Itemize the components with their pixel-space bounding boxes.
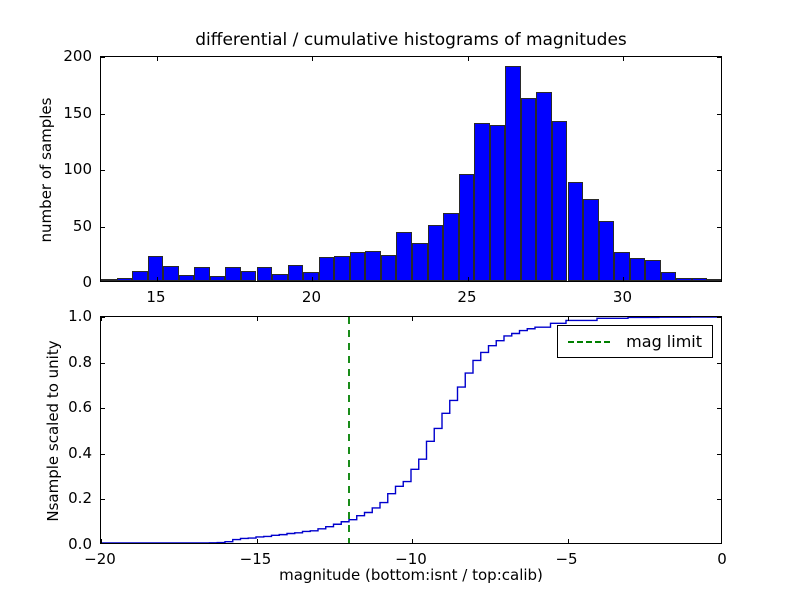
bottom-panel-xticklabel: −15 bbox=[240, 550, 272, 568]
histogram-bar bbox=[334, 256, 350, 281]
bottom-panel-xtick bbox=[101, 539, 102, 543]
bottom-panel-ytick bbox=[717, 317, 721, 318]
top-panel-xtick bbox=[157, 277, 158, 281]
bottom-panel-yticklabel: 0.4 bbox=[40, 444, 92, 462]
histogram-bar bbox=[117, 278, 133, 281]
histogram-bar bbox=[179, 275, 195, 281]
top-panel-ytick bbox=[717, 114, 721, 115]
bottom-panel-ytick bbox=[101, 363, 105, 364]
bottom-panel-ytick bbox=[717, 499, 721, 500]
top-panel-xtick bbox=[468, 57, 469, 61]
bottom-panel-xtick bbox=[568, 539, 569, 543]
top-panel-axes bbox=[100, 56, 722, 282]
histogram-bar bbox=[459, 174, 475, 281]
histogram-bar bbox=[257, 267, 273, 281]
histogram-bar bbox=[101, 279, 117, 281]
top-panel-xtick bbox=[157, 57, 158, 61]
bottom-panel-yticklabel: 0.0 bbox=[40, 535, 92, 553]
top-panel-xtick bbox=[623, 277, 624, 281]
histogram-bar bbox=[319, 257, 335, 281]
histogram-bar bbox=[381, 255, 397, 281]
bottom-panel-ytick bbox=[101, 317, 105, 318]
histogram-bar bbox=[163, 266, 179, 281]
bottom-panel-xtick bbox=[412, 317, 413, 321]
histogram-bar bbox=[490, 125, 506, 281]
mag-limit-line-swatch bbox=[568, 341, 610, 343]
histogram-bar bbox=[443, 213, 459, 281]
top-panel-ytick bbox=[717, 170, 721, 171]
top-panel-yticklabel: 150 bbox=[40, 104, 92, 122]
histogram-bar bbox=[521, 98, 537, 281]
top-panel-yticklabel: 100 bbox=[40, 160, 92, 178]
top-panel-yticklabel: 0 bbox=[40, 273, 92, 291]
figure-canvas: differential / cumulative histograms of … bbox=[0, 0, 800, 600]
histogram-bar bbox=[428, 225, 444, 282]
bottom-panel-xticklabel: −10 bbox=[395, 550, 427, 568]
histogram-bar bbox=[350, 252, 366, 281]
histogram-bar bbox=[210, 276, 226, 281]
histogram-bar bbox=[583, 199, 599, 281]
bottom-panel-ylabel: Nsample scaled to unity bbox=[44, 316, 62, 546]
bottom-panel-xticklabel: 0 bbox=[717, 550, 727, 568]
histogram-bar bbox=[396, 232, 412, 281]
bottom-panel-ytick bbox=[101, 454, 105, 455]
top-panel-ytick bbox=[101, 227, 105, 228]
top-panel-ytick bbox=[717, 57, 721, 58]
histogram-bar bbox=[225, 267, 241, 281]
bottom-panel-xtick bbox=[412, 539, 413, 543]
bottom-panel-xticklabel: −5 bbox=[555, 550, 577, 568]
bottom-panel-yticklabel: 0.2 bbox=[40, 489, 92, 507]
histogram-bar bbox=[707, 279, 721, 281]
histogram-bar bbox=[536, 92, 552, 281]
top-panel-ytick bbox=[717, 227, 721, 228]
histogram-bar bbox=[661, 272, 677, 281]
top-panel-xticklabel: 25 bbox=[457, 288, 476, 306]
histogram-bar bbox=[412, 243, 428, 281]
histogram-bar bbox=[505, 66, 521, 281]
histogram-bar bbox=[288, 265, 304, 281]
histogram-bar bbox=[148, 256, 164, 281]
top-panel-xticklabel: 30 bbox=[613, 288, 632, 306]
histogram-bar bbox=[241, 271, 257, 281]
bottom-panel-xlabel: magnitude (bottom:isnt / top:calib) bbox=[100, 566, 722, 584]
top-panel-ytick bbox=[101, 170, 105, 171]
bottom-panel-ytick bbox=[717, 363, 721, 364]
top-panel-ytick bbox=[101, 114, 105, 115]
top-panel-yticklabel: 200 bbox=[40, 47, 92, 65]
top-panel-xtick bbox=[623, 57, 624, 61]
legend-label-mag-limit: mag limit bbox=[626, 332, 702, 351]
histogram-bar bbox=[568, 182, 584, 281]
histogram-bar bbox=[194, 267, 210, 281]
histogram-plot-area bbox=[101, 57, 721, 281]
bottom-panel-xtick bbox=[257, 539, 258, 543]
top-panel-ytick bbox=[101, 57, 105, 58]
figure-title: differential / cumulative histograms of … bbox=[100, 30, 722, 50]
bottom-panel-axes: mag limit bbox=[100, 316, 722, 544]
top-panel-xtick bbox=[468, 277, 469, 281]
histogram-bar bbox=[630, 258, 646, 281]
top-panel-xtick bbox=[312, 277, 313, 281]
histogram-bar bbox=[552, 121, 568, 281]
bottom-panel-xtick bbox=[568, 317, 569, 321]
histogram-bar bbox=[614, 252, 630, 281]
top-panel-xticklabel: 15 bbox=[146, 288, 165, 306]
top-panel-xticklabel: 20 bbox=[302, 288, 321, 306]
histogram-bar bbox=[132, 271, 148, 281]
histogram-bar bbox=[272, 274, 288, 281]
bottom-panel-yticklabel: 0.8 bbox=[40, 353, 92, 371]
histogram-bar bbox=[645, 260, 661, 281]
top-panel-xtick bbox=[312, 57, 313, 61]
top-panel-yticklabel: 50 bbox=[40, 217, 92, 235]
histogram-bar bbox=[474, 123, 490, 281]
histogram-bar bbox=[599, 221, 615, 281]
bottom-panel-yticklabel: 1.0 bbox=[40, 307, 92, 325]
bottom-panel-ytick bbox=[717, 408, 721, 409]
histogram-bar bbox=[676, 278, 692, 281]
histogram-bar bbox=[692, 278, 708, 281]
histogram-bar bbox=[365, 251, 381, 282]
bottom-panel-ytick bbox=[101, 408, 105, 409]
bottom-panel-xtick bbox=[257, 317, 258, 321]
histogram-bar bbox=[303, 272, 319, 281]
bottom-panel-ytick bbox=[101, 499, 105, 500]
legend[interactable]: mag limit bbox=[557, 325, 713, 358]
bottom-panel-yticklabel: 0.6 bbox=[40, 398, 92, 416]
bottom-panel-ytick bbox=[717, 454, 721, 455]
